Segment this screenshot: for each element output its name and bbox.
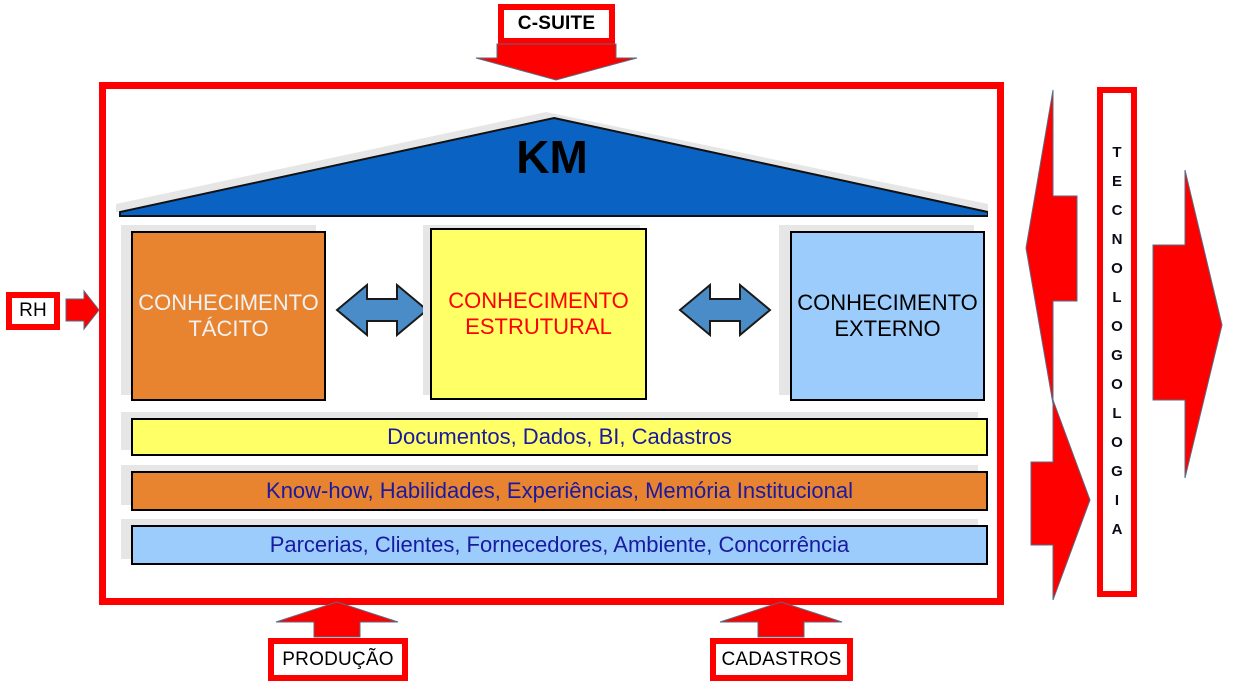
label-producao[interactable]: PRODUÇÃO <box>268 638 408 681</box>
roof-label-km: KM <box>116 130 988 184</box>
tech-letter: O <box>1111 429 1123 458</box>
arrow-right-icon[interactable] <box>66 291 99 329</box>
tech-letter: G <box>1111 342 1123 371</box>
tech-letter: A <box>1112 516 1123 545</box>
pillar-conhecimento-tacito[interactable]: CONHECIMENTO TÁCITO <box>131 231 326 401</box>
roof-group: KM <box>116 112 988 217</box>
label-cadastros-text: CADASTROS <box>721 649 841 671</box>
diagram-canvas: C-SUITE RH PRODUÇÃO CADASTROS KM CONHECI… <box>0 0 1239 688</box>
label-rh-text: RH <box>19 300 47 322</box>
bar-parcerias[interactable]: Parcerias, Clientes, Fornecedores, Ambie… <box>131 525 988 565</box>
tech-letter: T <box>1112 139 1121 168</box>
pillar-estrutural-line2: ESTRUTURAL <box>448 314 629 340</box>
bar-knowhow[interactable]: Know-how, Habilidades, Experiências, Mem… <box>131 471 988 511</box>
tech-column[interactable]: T E C N O L O G O L O G I A <box>1097 87 1137 597</box>
tech-letter: I <box>1115 487 1119 516</box>
arrow-left-icon[interactable] <box>1026 90 1077 404</box>
tech-letter: O <box>1111 371 1123 400</box>
arrow-up-icon[interactable] <box>720 602 842 637</box>
tech-letter: G <box>1111 458 1123 487</box>
bar-documentos[interactable]: Documentos, Dados, BI, Cadastros <box>131 418 988 456</box>
pillar-conhecimento-externo[interactable]: CONHECIMENTO EXTERNO <box>790 231 985 401</box>
pillar-externo-line1: CONHECIMENTO <box>797 290 978 316</box>
tech-letter: O <box>1111 255 1123 284</box>
tech-letter: L <box>1112 400 1121 429</box>
tech-letter: C <box>1112 197 1123 226</box>
arrow-down-icon[interactable] <box>476 44 637 80</box>
tech-letter: L <box>1112 284 1121 313</box>
label-cadastros[interactable]: CADASTROS <box>710 638 853 681</box>
label-c-suite-text: C-SUITE <box>518 13 595 35</box>
pillar-tacito-line1: CONHECIMENTO <box>138 290 319 316</box>
tech-letter: E <box>1112 168 1122 197</box>
tech-letter: N <box>1112 226 1123 255</box>
pillar-conhecimento-estrutural[interactable]: CONHECIMENTO ESTRUTURAL <box>430 228 647 400</box>
label-producao-text: PRODUÇÃO <box>282 649 393 671</box>
pillar-estrutural-line1: CONHECIMENTO <box>448 288 629 314</box>
arrow-up-icon[interactable] <box>276 602 398 637</box>
label-c-suite[interactable]: C-SUITE <box>498 4 615 44</box>
tech-letter: O <box>1111 313 1123 342</box>
bar-documentos-text: Documentos, Dados, BI, Cadastros <box>387 424 732 450</box>
pillar-externo-line2: EXTERNO <box>797 316 978 342</box>
label-rh[interactable]: RH <box>6 292 60 330</box>
pillar-tacito-line2: TÁCITO <box>138 316 319 342</box>
bar-parcerias-text: Parcerias, Clientes, Fornecedores, Ambie… <box>270 532 850 558</box>
bar-knowhow-text: Know-how, Habilidades, Experiências, Mem… <box>266 478 853 504</box>
